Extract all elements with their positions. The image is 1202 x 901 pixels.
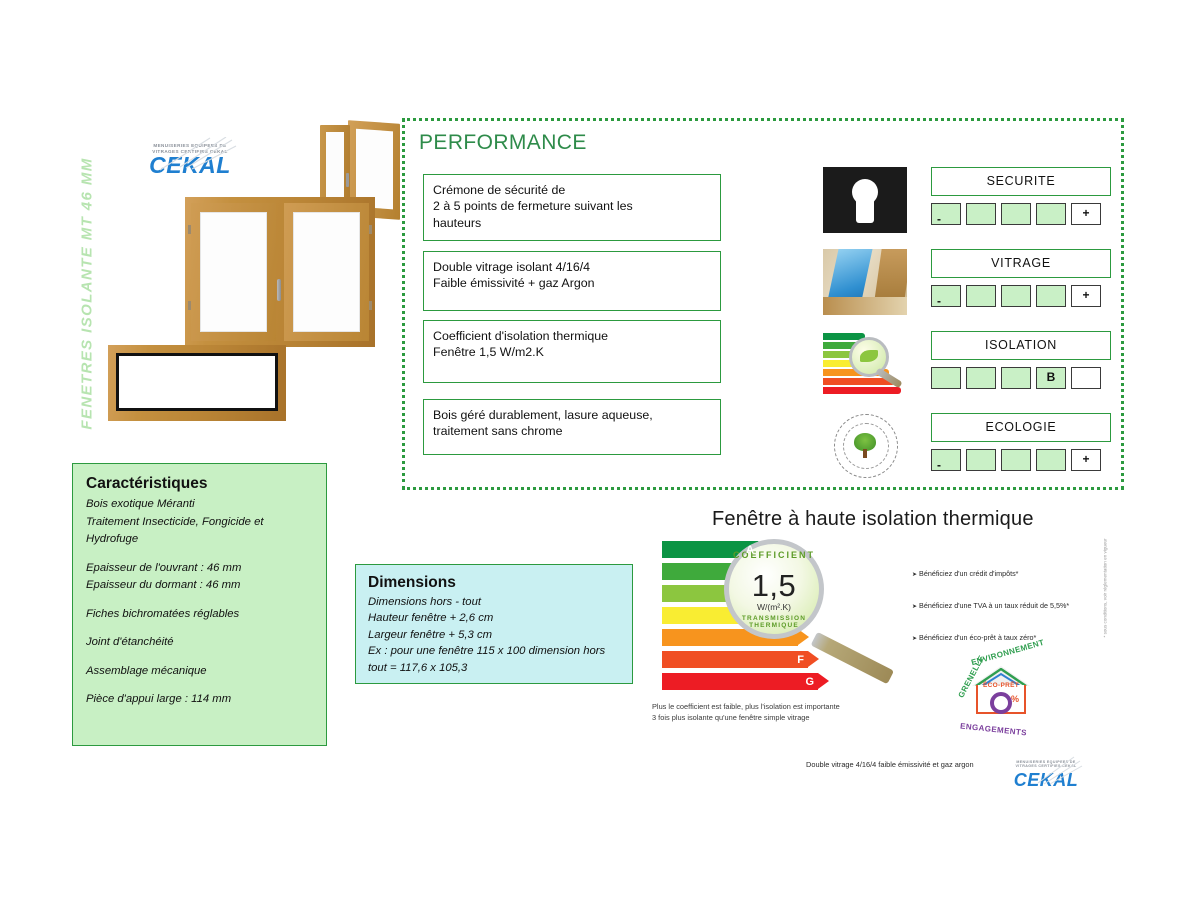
rating-row-isolation: ISOLATION B xyxy=(823,331,1111,408)
grade-label: G xyxy=(805,676,814,688)
performance-feature-box: Coefficient d'isolation thermique Fenêtr… xyxy=(423,320,721,383)
scale-cell xyxy=(966,367,996,389)
feature-line: Fenêtre 1,5 W/m2.K xyxy=(433,344,711,360)
window-photo-main xyxy=(185,197,375,347)
house-icon: ÉCO-PRÊT % xyxy=(972,666,1030,714)
bottom-note: Double vitrage 4/16/4 faible émissivité … xyxy=(806,760,974,769)
keyhole-icon xyxy=(823,167,907,233)
grenelle-environnement-logo: GRENELLE ENVIRONNEMENT ENGAGEMENTS ÉCO-P… xyxy=(942,650,1060,732)
promo-heading: Fenêtre à haute isolation thermique xyxy=(712,508,1034,531)
cekal-logo-bottom: MENUISERIES EQUIPEES DE VITRAGES CERTIFI… xyxy=(1008,760,1084,792)
caracteristique-line: Assemblage mécanique xyxy=(86,663,313,681)
cekal-tagline-1: MENUISERIES EQUIPEES DE xyxy=(140,143,240,149)
feature-line: Crémone de sécurité de xyxy=(433,182,711,198)
caracteristique-line: Fiches bichromatées réglables xyxy=(86,606,313,624)
rating-row-vitrage: VITRAGE - + xyxy=(823,249,1111,326)
rating-scale: - + xyxy=(931,449,1111,471)
window-photo-transom xyxy=(108,345,286,421)
benefit-item: Bénéficiez d'une TVA à un taux réduit de… xyxy=(912,600,1102,613)
percent-label: % xyxy=(1011,694,1019,704)
dimensions-title: Dimensions xyxy=(368,574,620,592)
scale-cell xyxy=(1036,285,1066,307)
performance-feature-box: Crémone de sécurité de 2 à 5 points de f… xyxy=(423,174,721,241)
coefficient-unit: W/(m².K) xyxy=(729,602,819,612)
casement-handle xyxy=(346,173,349,187)
caracteristique-line: Joint d'étanchéité xyxy=(86,634,313,652)
caracteristique-line: Epaisseur du dormant : 46 mm xyxy=(86,577,313,595)
scale-cell xyxy=(1001,285,1031,307)
caracteristique-line: Pièce d'appui large : 114 mm xyxy=(86,691,313,709)
performance-feature-box: Double vitrage isolant 4/16/4 Faible émi… xyxy=(423,251,721,311)
caracteristique-line: Hydrofuge xyxy=(86,531,313,549)
feature-line: Coefficient d'isolation thermique xyxy=(433,328,711,344)
performance-title: PERFORMANCE xyxy=(419,131,587,155)
eco-stamp-icon xyxy=(823,413,907,479)
grade-label: A xyxy=(746,544,754,556)
scale-cell xyxy=(931,367,961,389)
scale-cell xyxy=(966,449,996,471)
scale-cell xyxy=(1001,367,1031,389)
energy-label-graphic: A F G COEFFICIENT 1,5 W/(m².K) TRANSMISS… xyxy=(662,535,887,700)
feature-line: Double vitrage isolant 4/16/4 xyxy=(433,259,711,275)
caracteristique-line: Epaisseur de l'ouvrant : 46 mm xyxy=(86,560,313,578)
rating-row-securite: SECURITE - + xyxy=(823,167,1111,244)
grade-label: F xyxy=(797,654,804,666)
scale-cell: + xyxy=(1071,449,1101,471)
dimension-line: Ex : pour une fenêtre 115 x 100 dimensio… xyxy=(368,643,620,659)
rating-label: SECURITE xyxy=(931,167,1111,196)
rating-label: ECOLOGIE xyxy=(931,413,1111,442)
energy-caption: Plus le coefficient est faible, plus l'i… xyxy=(652,701,892,723)
caracteristiques-box: Caractéristiques Bois exotique Méranti T… xyxy=(72,463,327,746)
cekal-logo-top: MENUISERIES EQUIPEES DE VITRAGES CERTIFI… xyxy=(140,143,240,177)
scale-cell xyxy=(966,203,996,225)
cekal-wordmark: CEKAL xyxy=(1008,769,1084,792)
coefficient-arc-label: COEFFICIENT xyxy=(729,550,819,560)
glazing-icon xyxy=(823,249,907,315)
benefit-item: Bénéficiez d'un éco-prêt à taux zéro* xyxy=(912,632,1102,645)
scale-cell: + xyxy=(1071,203,1101,225)
transmission-arc-label: TRANSMISSION THERMIQUE xyxy=(729,615,819,629)
rating-row-ecologie: ECOLOGIE - + xyxy=(823,413,1111,490)
scale-cell: - xyxy=(931,285,961,307)
dimension-line: Largeur fenêtre + 5,3 cm xyxy=(368,627,620,643)
scale-cell-active: B xyxy=(1036,367,1066,389)
dimensions-box: Dimensions Dimensions hors - tout Hauteu… xyxy=(355,564,633,684)
energy-magnifier-icon xyxy=(823,331,907,397)
scale-cell: - xyxy=(931,203,961,225)
caption-line: 3 fois plus isolante qu'une fenêtre simp… xyxy=(652,712,892,723)
benefit-item: Bénéficiez d'un crédit d'impôts* xyxy=(912,568,1102,581)
rating-label: ISOLATION xyxy=(931,331,1111,360)
rating-scale: B xyxy=(931,367,1111,389)
datasheet-page: FENETRES ISOLANTE MT 46 MM MENUISERIES E… xyxy=(0,0,1202,901)
side-disclaimer: * sous conditions, voir réglementation e… xyxy=(1103,548,1108,638)
rating-scale: - + xyxy=(931,203,1111,225)
dimension-line: tout = 117,6 x 105,3 xyxy=(368,660,620,676)
scale-cell xyxy=(966,285,996,307)
main-window-sash-right xyxy=(284,203,369,341)
caracteristique-line: Traitement Insecticide, Fongicide et xyxy=(86,514,313,532)
dimension-line: Hauteur fenêtre + 2,6 cm xyxy=(368,610,620,626)
eco-pret-label: ÉCO-PRÊT xyxy=(983,682,1019,689)
performance-panel: PERFORMANCE Crémone de sécurité de 2 à 5… xyxy=(402,118,1124,490)
rating-scale: - + xyxy=(931,285,1111,307)
zero-ring-icon xyxy=(990,692,1012,714)
casement-fixed-leaf xyxy=(320,125,350,207)
caption-line: Plus le coefficient est faible, plus l'i… xyxy=(652,701,892,712)
scale-cell: + xyxy=(1071,285,1101,307)
coefficient-value: 1,5 xyxy=(729,568,819,604)
feature-line: traitement sans chrome xyxy=(433,423,711,439)
scale-cell xyxy=(1036,449,1066,471)
main-window-sash-left xyxy=(191,203,276,341)
side-title: FENETRES ISOLANTE MT 46 MM xyxy=(79,144,96,444)
performance-feature-box: Bois géré durablement, lasure aqueuse, t… xyxy=(423,399,721,455)
cekal-wordmark: CEKAL xyxy=(140,154,240,177)
scale-cell xyxy=(1036,203,1066,225)
rating-label: VITRAGE xyxy=(931,249,1111,278)
scale-cell xyxy=(1071,367,1101,389)
scale-cell: - xyxy=(931,449,961,471)
scale-cell xyxy=(1001,203,1031,225)
caracteristique-line: Bois exotique Méranti xyxy=(86,496,313,514)
feature-line: 2 à 5 points de fermeture suivant les xyxy=(433,198,711,214)
feature-line: Bois géré durablement, lasure aqueuse, xyxy=(433,407,711,423)
main-window-handle xyxy=(277,279,281,301)
feature-line: hauteurs xyxy=(433,215,711,231)
dimension-line: Dimensions hors - tout xyxy=(368,594,620,610)
transom-glazing xyxy=(116,353,278,411)
caracteristiques-title: Caractéristiques xyxy=(86,475,313,493)
engagements-word: ENGAGEMENTS xyxy=(960,722,1028,738)
feature-line: Faible émissivité + gaz Argon xyxy=(433,275,711,291)
scale-cell xyxy=(1001,449,1031,471)
magnifier-lens: COEFFICIENT 1,5 W/(m².K) TRANSMISSION TH… xyxy=(724,539,824,639)
